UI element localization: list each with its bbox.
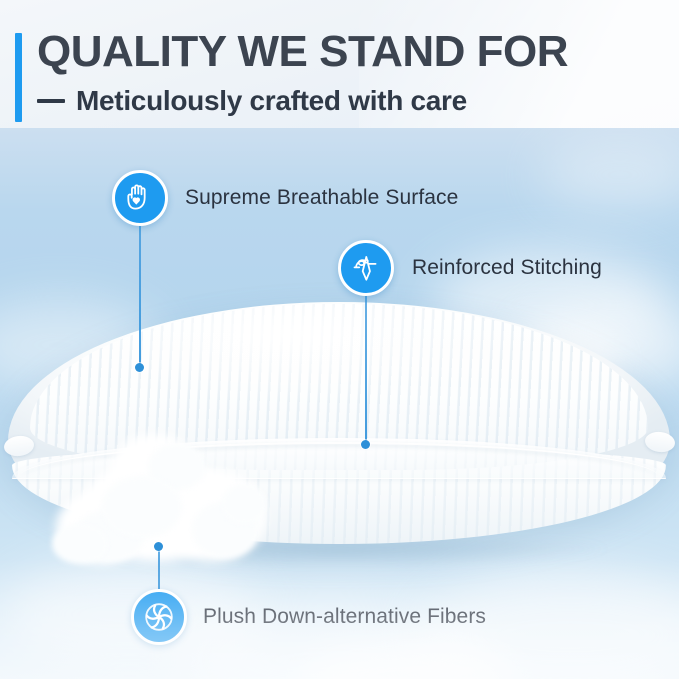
infographic-canvas: QUALITY WE STAND FOR Meticulously crafte… [0, 0, 679, 679]
hand-heart-icon[interactable] [112, 170, 168, 226]
page-subtitle: Meticulously crafted with care [37, 85, 467, 117]
connector-dot-2 [361, 440, 370, 449]
page-title: QUALITY WE STAND FOR [37, 29, 568, 75]
connector-line-2 [365, 294, 367, 446]
connector-dot-3 [154, 542, 163, 551]
em-dash-rule [37, 99, 65, 103]
connector-dot-1 [135, 363, 144, 372]
needle-thread-icon[interactable] [338, 240, 394, 296]
callout-label-1: Supreme Breathable Surface [185, 186, 458, 210]
callout-label-2: Reinforced Stitching [412, 256, 602, 280]
accent-bar [15, 33, 22, 122]
connector-line-1 [139, 224, 141, 369]
page-subtitle-text: Meticulously crafted with care [76, 85, 467, 117]
bottom-haze [0, 559, 679, 679]
